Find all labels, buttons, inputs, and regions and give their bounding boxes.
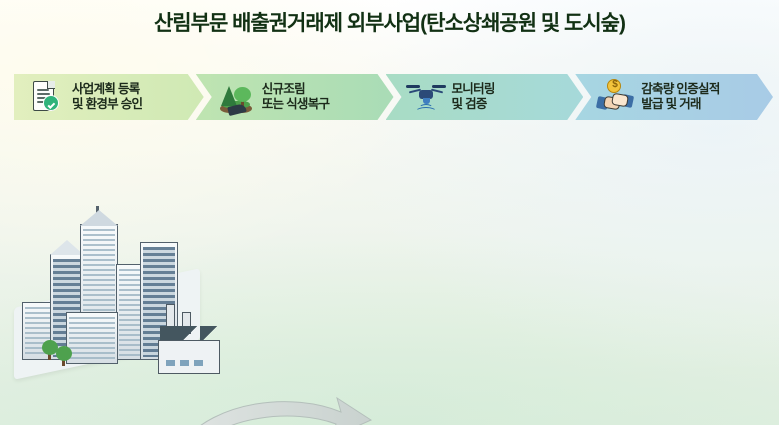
- process-step-1[interactable]: 사업계획 등록 및 환경부 승인: [14, 74, 204, 120]
- process-step-4[interactable]: 감축량 인증실적 발급 및 거래: [575, 74, 773, 120]
- page-title: 산림부문 배출권거래제 외부사업(탄소상쇄공원 및 도시숲): [0, 7, 779, 37]
- process-flow: 사업계획 등록 및 환경부 승인 신규조림 또는 식생복구: [14, 74, 765, 120]
- factory-icon: [158, 312, 220, 374]
- infographic-canvas: 산림부문 배출권거래제 외부사업(탄소상쇄공원 및 도시숲) 사업계획 등록 및…: [0, 0, 779, 425]
- handshake-coin-icon: [595, 78, 635, 116]
- city-illustration: [8, 194, 208, 364]
- drone-monitoring-icon: [406, 78, 446, 116]
- process-step-2-label: 신규조림 또는 식생복구: [262, 82, 330, 113]
- process-step-2[interactable]: 신규조림 또는 식생복구: [196, 74, 394, 120]
- process-step-3[interactable]: 모니터링 및 검증: [386, 74, 584, 120]
- tree-planting-icon: [216, 78, 256, 116]
- process-step-3-label: 모니터링 및 검증: [452, 82, 495, 113]
- co2-flow-arrow: [175, 386, 375, 425]
- process-step-4-label: 감축량 인증실적 발급 및 거래: [641, 82, 719, 113]
- process-step-1-label: 사업계획 등록 및 환경부 승인: [72, 82, 142, 113]
- document-check-icon: [26, 78, 66, 116]
